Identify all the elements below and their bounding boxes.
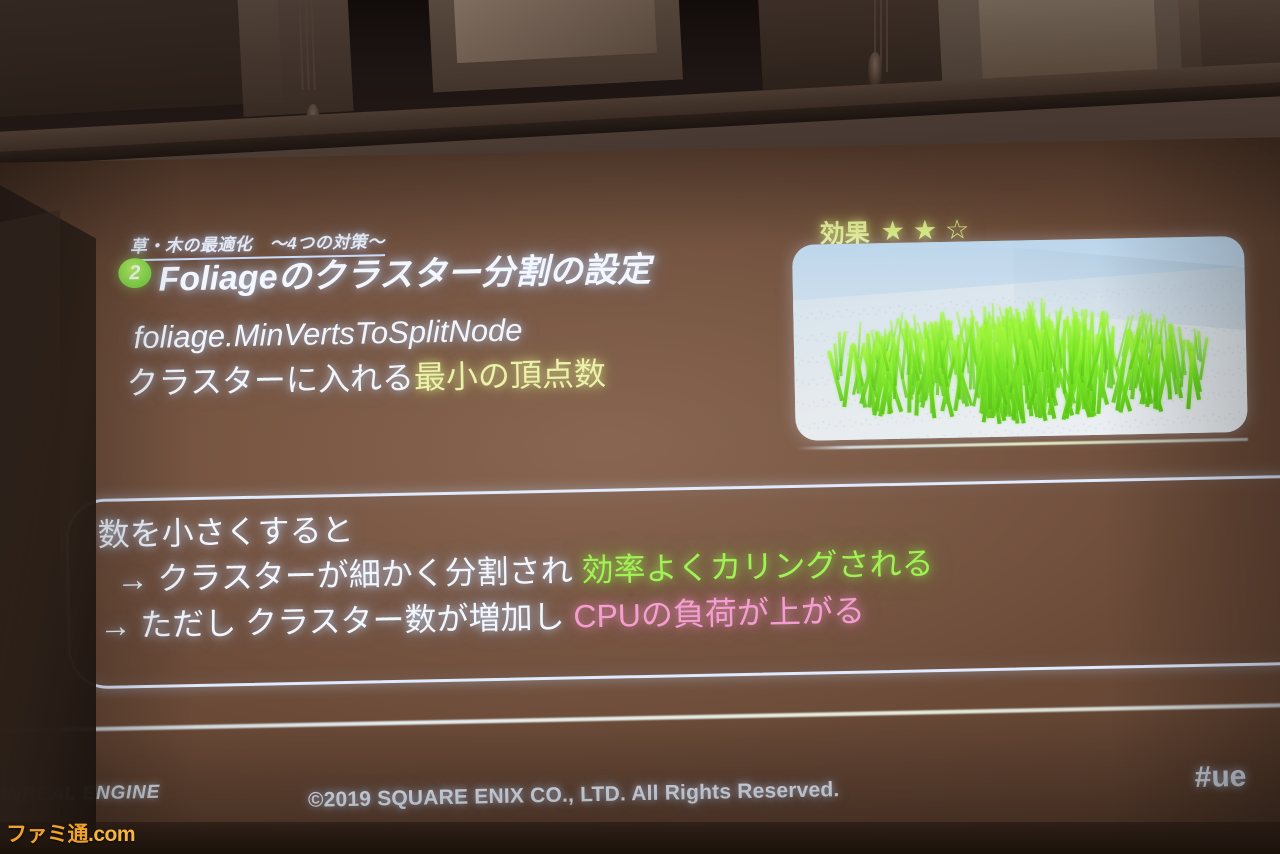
projection-screen: 草・木の最適化 ～4つの対策～ 2 Foliageのクラスター分割の設定 効果 … [0,137,1280,854]
arrow-right-icon: → [116,561,149,598]
callout-line-3-pink: CPUの負荷が上がる [573,592,865,634]
famitsu-watermark: ファミ通.com [6,818,135,848]
cvar-description-highlight: 最小の頂点数 [414,356,607,396]
star-empty-icon: ☆ [945,216,970,243]
callout-line-2-white: クラスターが細かく分割され [157,553,573,597]
footer-hashtag: #ue [1194,760,1246,795]
footer-divider [0,702,1280,733]
room-wall-left-highlight [0,210,60,830]
effect-stars: ★ ★ ☆ [880,216,969,245]
room-floor-band [0,822,1280,854]
watermark-name: ファミ通 [6,823,88,846]
copyright-notice: ©2019 SQUARE ENIX CO., LTD. All Rights R… [308,778,840,813]
thumbnail-underline [796,438,1248,450]
cvar-description: クラスターに入れる最小の頂点数 [126,349,606,405]
grass-blades [824,280,1215,425]
watermark-suffix: .com [88,823,135,846]
star-filled-icon: ★ [880,217,905,244]
ceiling-fixture-icon [868,52,882,86]
slide-headline: Foliageのクラスター分割の設定 [158,242,651,301]
step-number-badge: 2 [118,258,152,289]
callout-line-2-green: 効率よくカリングされる [581,546,934,589]
photo-frame: 草・木の最適化 ～4つの対策～ 2 Foliageのクラスター分割の設定 効果 … [0,0,1280,854]
cvar-name: foliage.MinVertsToSplitNode [133,312,523,356]
arrow-right-icon: → [99,607,132,644]
grass-render-thumbnail [792,236,1248,441]
callout-text: 数を小さくすると → クラスターが細かく分割され 効率よくカリングされる → た… [97,496,935,649]
star-filled-icon: ★ [913,217,938,244]
slide-content: 草・木の最適化 ～4つの対策～ 2 Foliageのクラスター分割の設定 効果 … [0,137,1280,854]
callout-line-1-text: 数を小さくすると [97,512,354,553]
cvar-description-white: クラスターに入れる [126,360,414,402]
callout-line-3-white: ただし クラスター数が増加し [140,598,565,643]
